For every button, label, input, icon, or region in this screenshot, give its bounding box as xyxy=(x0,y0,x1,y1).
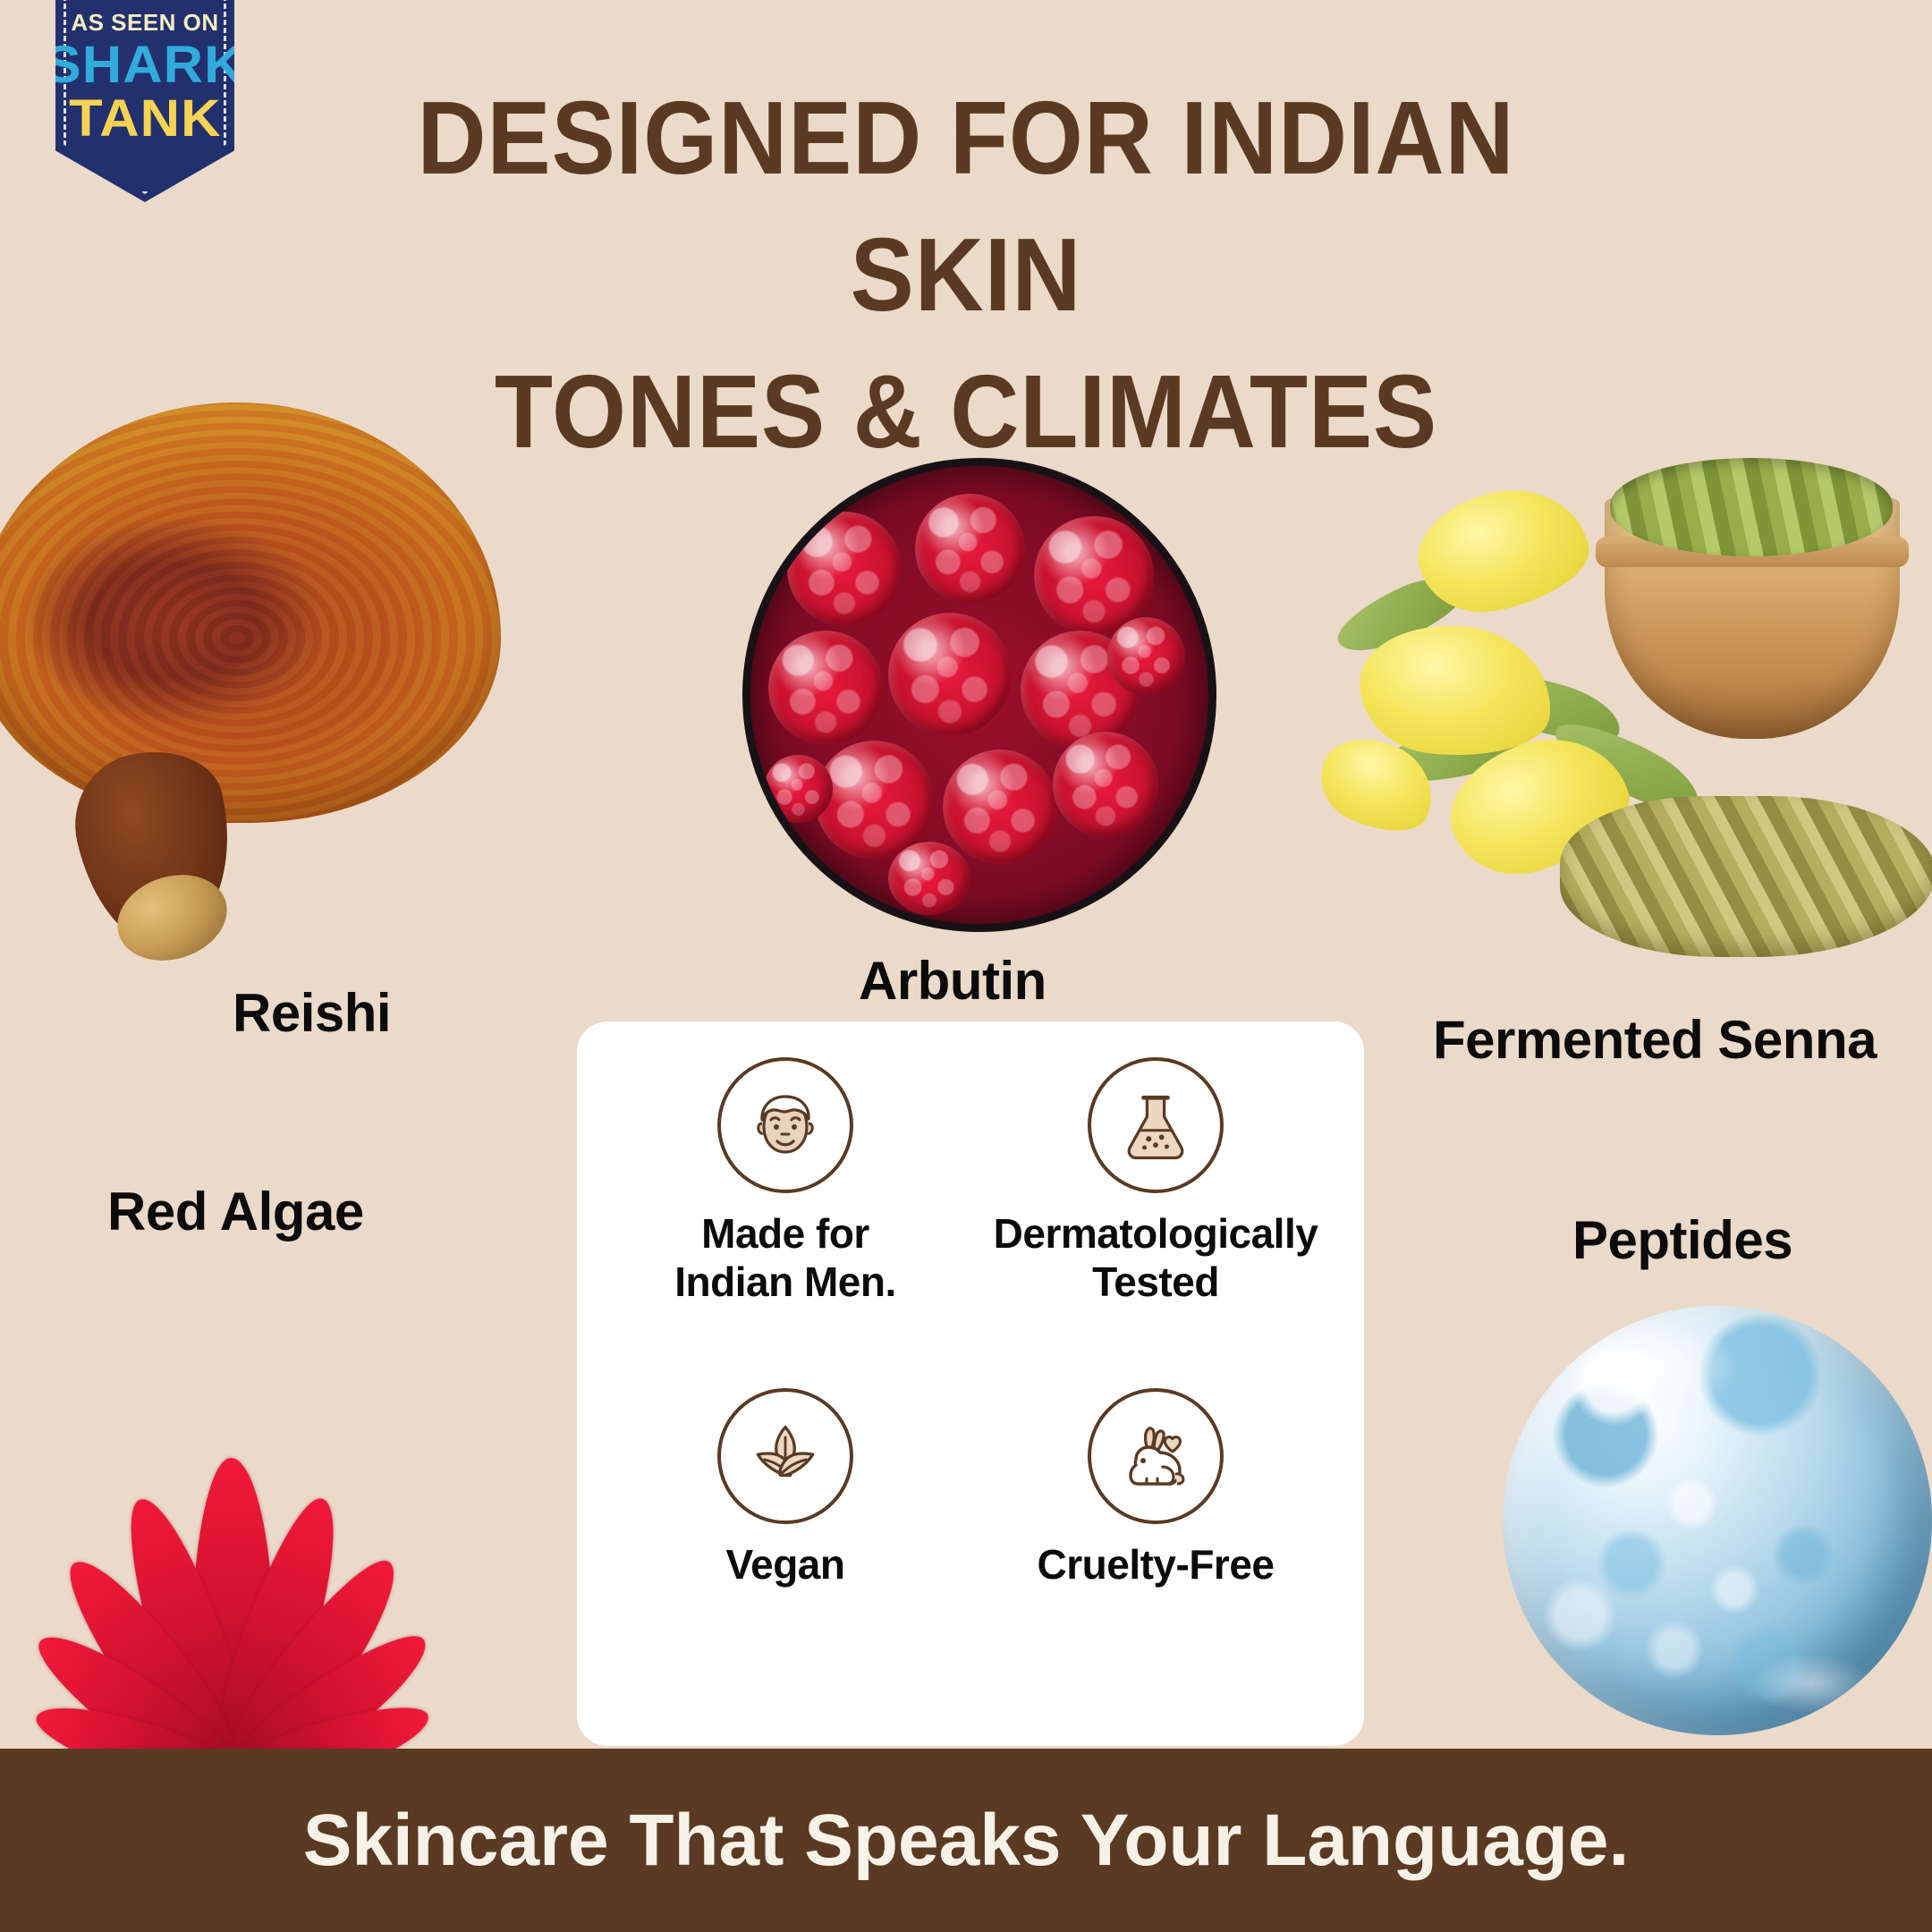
raspberry-glass-image xyxy=(742,458,1216,932)
claim-label-line-2: Indian Men. xyxy=(674,1258,896,1306)
ingredient-label-peptides: Peptides xyxy=(1572,1209,1792,1271)
as-seen-on-shark-tank-badge: AS SEEN ON SHARK TANK xyxy=(55,0,234,202)
reishi-cap xyxy=(0,402,501,823)
red-algae-image xyxy=(0,1279,474,1780)
claim-label-line-1: Vegan xyxy=(725,1540,844,1589)
claim-icon-ring xyxy=(1088,1388,1224,1524)
claim-dermatologically-tested: Dermatologically Tested xyxy=(970,1057,1341,1388)
footer-banner: Skincare That Speaks Your Language. xyxy=(0,1749,1932,1932)
as-seen-on-label: AS SEEN ON xyxy=(71,11,218,34)
peptide-sphere xyxy=(1503,1306,1932,1735)
claim-label-line-1: Made for xyxy=(674,1209,896,1258)
claim-cruelty-free: Cruelty-Free xyxy=(970,1388,1341,1719)
poster-canvas: AS SEEN ON SHARK TANK DESIGNED FOR INDIA… xyxy=(0,0,1932,1932)
senna-flowers-pods-image xyxy=(1324,411,1932,966)
claim-vegan: Vegan xyxy=(600,1388,970,1719)
claim-label-line-2: Tested xyxy=(994,1258,1318,1306)
claim-label: Vegan xyxy=(725,1540,844,1589)
claim-icon-ring xyxy=(717,1388,853,1524)
dried-senna-pods xyxy=(1560,796,1932,957)
footer-tagline: Skincare That Speaks Your Language. xyxy=(303,1799,1630,1883)
ingredient-label-red-algae: Red Algae xyxy=(107,1181,364,1242)
reishi-mushroom-image xyxy=(0,402,501,957)
leaves-icon xyxy=(742,1413,828,1499)
rabbit-heart-icon xyxy=(1111,1411,1200,1501)
page-title-line-1: DESIGNED FOR INDIAN SKIN xyxy=(417,80,1514,333)
glass-rim xyxy=(742,458,1216,932)
claim-made-for-indian-men: Made for Indian Men. xyxy=(600,1057,970,1388)
claim-label: Cruelty-Free xyxy=(1038,1540,1275,1589)
claim-label-line-1: Dermatologically xyxy=(994,1209,1318,1258)
ingredient-label-fermented-senna: Fermented Senna xyxy=(1433,1009,1877,1071)
claim-icon-ring xyxy=(717,1057,853,1193)
green-pods-in-bowl xyxy=(1610,458,1893,556)
water-sphere-image xyxy=(1503,1306,1932,1735)
mans-face-icon xyxy=(741,1080,830,1170)
shark-wordmark: SHARK xyxy=(45,39,245,91)
claim-label-line-1: Cruelty-Free xyxy=(1038,1540,1275,1589)
tank-wordmark: TANK xyxy=(69,93,221,145)
ingredient-label-reishi: Reishi xyxy=(233,982,391,1044)
claim-icon-ring xyxy=(1088,1057,1224,1193)
claim-label: Dermatologically Tested xyxy=(994,1209,1318,1307)
claim-label: Made for Indian Men. xyxy=(674,1209,896,1307)
trust-badges-card: Made for Indian Men. Dermatologically xyxy=(577,1021,1364,1746)
ingredient-label-arbutin: Arbutin xyxy=(859,950,1046,1012)
flask-icon xyxy=(1113,1082,1199,1168)
